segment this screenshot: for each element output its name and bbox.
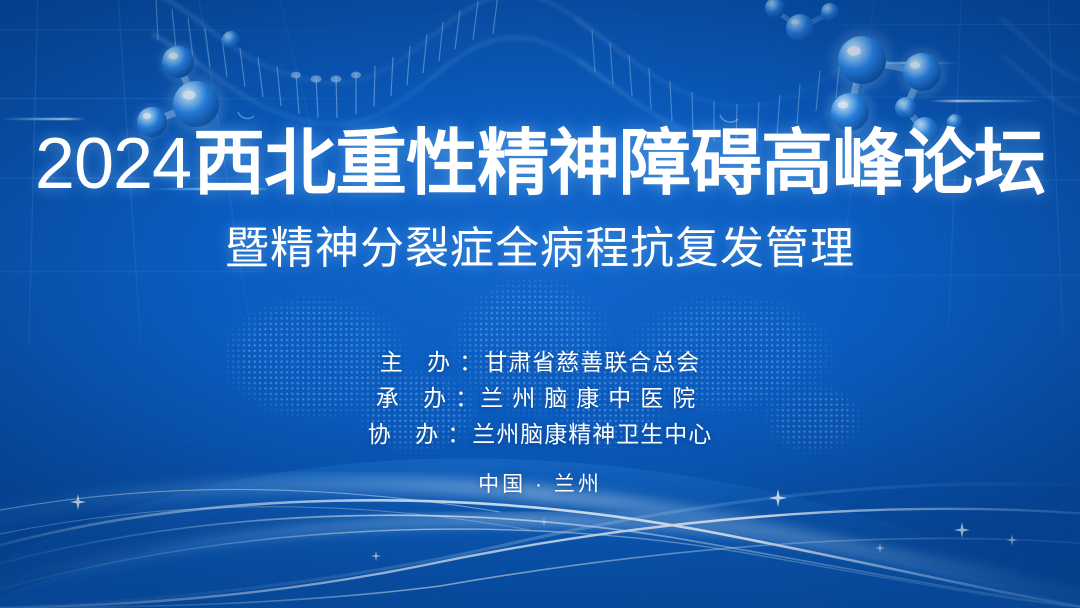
title-year: 2024 <box>35 124 191 204</box>
organizer-name: 甘肃省慈善联合总会 <box>484 349 700 375</box>
page-title: 2024西北重性精神障碍高峰论坛 <box>0 128 1080 200</box>
organizer-name: 兰州脑康中医院 <box>480 385 704 411</box>
conference-poster: 2024西北重性精神障碍高峰论坛 暨精神分裂症全病程抗复发管理 主 办：甘肃省慈… <box>0 0 1080 608</box>
organizer-separator: ： <box>459 349 482 375</box>
organizers-block: 主 办：甘肃省慈善联合总会 承 办：兰州脑康中医院 协 办：兰州脑康精神卫生中心 <box>0 344 1080 452</box>
organizer-row: 主 办：甘肃省慈善联合总会 <box>0 344 1080 380</box>
organizer-separator: ： <box>455 385 478 411</box>
organizer-row: 协 办：兰州脑康精神卫生中心 <box>0 416 1080 452</box>
event-location: 中国 · 兰州 <box>0 468 1080 498</box>
organizer-name: 兰州脑康精神卫生中心 <box>472 421 712 447</box>
organizer-row: 承 办：兰州脑康中医院 <box>0 380 1080 416</box>
organizer-label: 承 办 <box>376 385 455 411</box>
title-main: 西北重性精神障碍高峰论坛 <box>193 124 1045 204</box>
page-subtitle: 暨精神分裂症全病程抗复发管理 <box>0 212 1080 276</box>
organizer-separator: ： <box>447 421 470 447</box>
organizer-label: 协 办 <box>368 421 447 447</box>
organizer-label: 主 办 <box>380 349 459 375</box>
